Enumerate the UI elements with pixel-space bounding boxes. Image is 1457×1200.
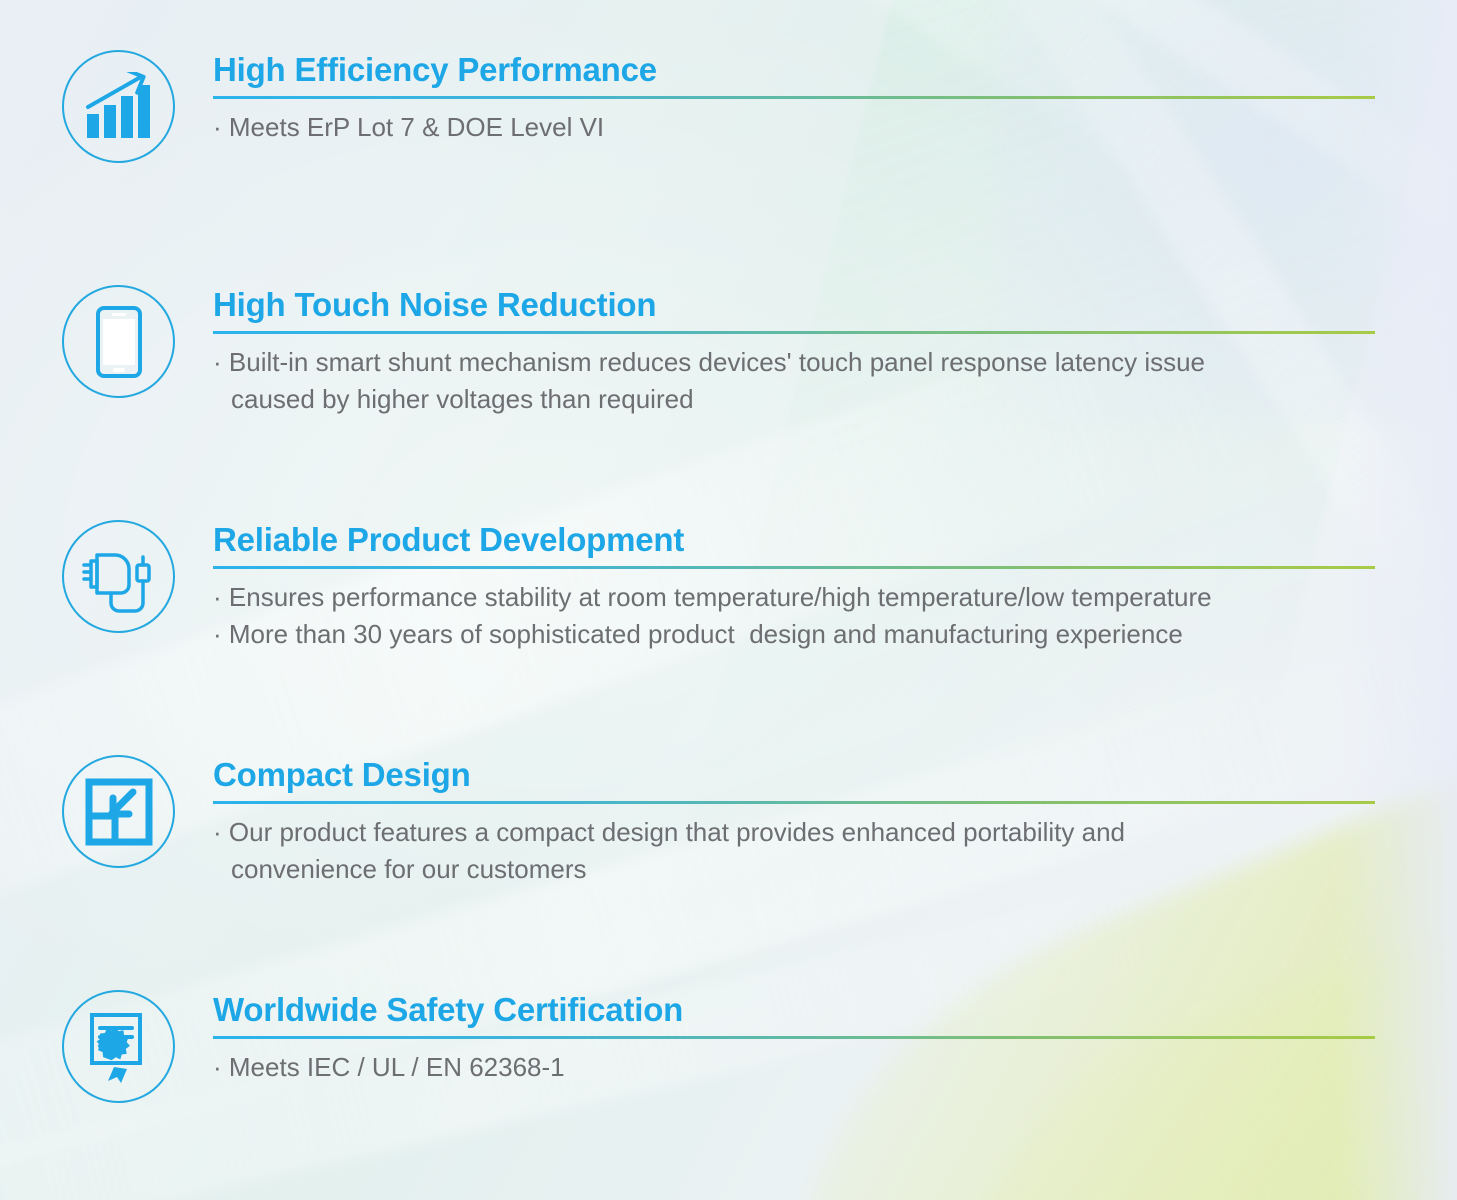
bullet-marker: · [213,582,222,612]
feature-description: · Ensures performance stability at room … [213,579,1457,653]
feature-bullet-line-continued: convenience for our customers [213,851,1457,888]
bullet-marker: · [213,817,222,847]
feature-body: Worldwide Safety Certification · Meets I… [213,990,1457,1086]
feature-title: Compact Design [213,755,1457,795]
feature-title: Worldwide Safety Certification [213,990,1457,1030]
feature-bullet-line: · Meets IEC / UL / EN 62368-1 [213,1049,1457,1086]
feature-icon-wrap [62,50,177,165]
feature-bullet-text: Meets IEC / UL / EN 62368-1 [222,1052,565,1082]
feature-body: High Efficiency Performance · Meets ErP … [213,50,1457,146]
compact-resize-icon [62,755,175,868]
feature-title: High Touch Noise Reduction [213,285,1457,325]
certificate-badge-icon [62,990,175,1103]
bullet-marker: · [213,1052,222,1082]
bullet-marker: · [213,112,222,142]
feature-bullet-line: · More than 30 years of sophisticated pr… [213,616,1457,653]
feature-divider [213,566,1375,569]
feature-divider [213,96,1375,99]
growth-bar-chart-icon [62,50,175,163]
feature-bullet-line: · Built-in smart shunt mechanism reduces… [213,344,1457,381]
feature-title: Reliable Product Development [213,520,1457,560]
feature-divider [213,1036,1375,1039]
smartphone-icon [62,285,175,398]
feature-divider [213,331,1375,334]
feature-bullet-text: Built-in smart shunt mechanism reduces d… [222,347,1205,377]
feature-icon-wrap [62,520,177,635]
feature-bullet-text: More than 30 years of sophisticated prod… [222,619,1183,649]
feature-description: · Built-in smart shunt mechanism reduces… [213,344,1457,418]
feature-body: High Touch Noise Reduction · Built-in sm… [213,285,1457,418]
feature-title: High Efficiency Performance [213,50,1457,90]
feature-highlight-slide: High Efficiency Performance · Meets ErP … [0,0,1457,1200]
feature-bullet-text: Ensures performance stability at room te… [222,582,1212,612]
feature-description: · Meets ErP Lot 7 & DOE Level VI [213,109,1457,146]
feature-bullet-text: Our product features a compact design th… [222,817,1125,847]
bullet-marker: · [213,619,222,649]
feature-list: High Efficiency Performance · Meets ErP … [0,0,1457,1200]
feature-body: Compact Design · Our product features a … [213,755,1457,888]
power-adapter-icon [62,520,175,633]
feature-bullet-line: · Our product features a compact design … [213,814,1457,851]
feature-body: Reliable Product Development · Ensures p… [213,520,1457,653]
feature-description: · Our product features a compact design … [213,814,1457,888]
feature-icon-wrap [62,285,177,400]
feature-icon-wrap [62,990,177,1105]
feature-bullet-text: Meets ErP Lot 7 & DOE Level VI [222,112,604,142]
bullet-marker: · [213,347,222,377]
feature-bullet-line: · Ensures performance stability at room … [213,579,1457,616]
feature-bullet-line: · Meets ErP Lot 7 & DOE Level VI [213,109,1457,146]
feature-divider [213,801,1375,804]
feature-bullet-line-continued: caused by higher voltages than required [213,381,1457,418]
feature-icon-wrap [62,755,177,870]
feature-description: · Meets IEC / UL / EN 62368-1 [213,1049,1457,1086]
